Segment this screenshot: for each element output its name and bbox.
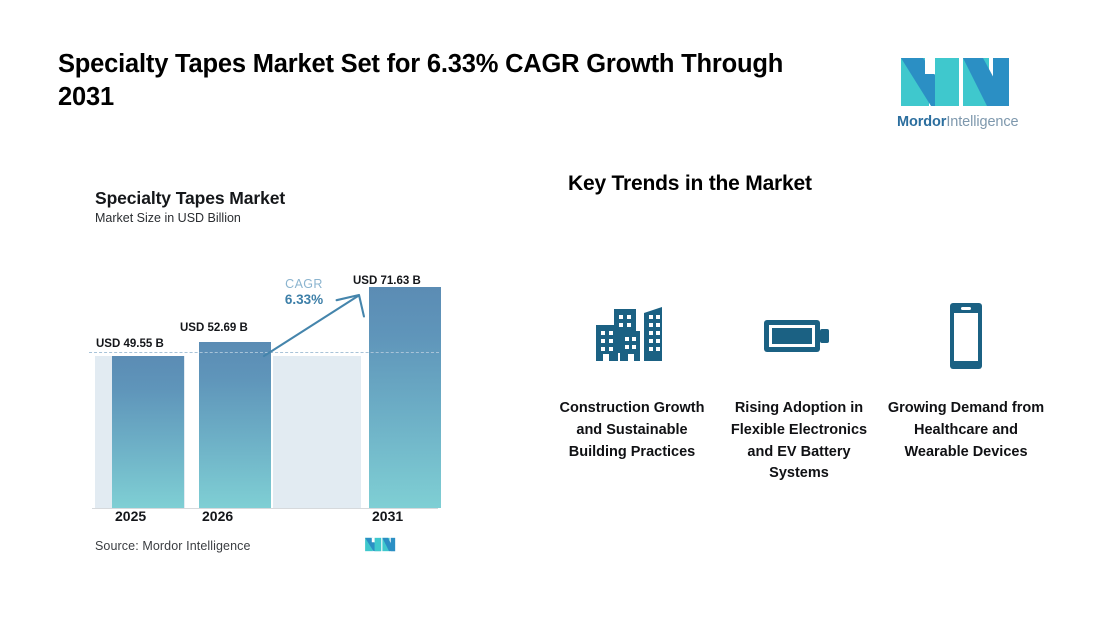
- source-mordor-logo-mark: [364, 536, 396, 553]
- logo-wordmark: MordorIntelligence: [897, 114, 1012, 130]
- smartphone-icon: [884, 300, 1048, 372]
- chart-background-band: [273, 356, 361, 508]
- chart-title: Specialty Tapes Market: [95, 188, 285, 209]
- buildings-icon-glyph: [594, 303, 670, 369]
- mordor-logo-mark: [897, 54, 1012, 110]
- battery-icon-glyph: [762, 312, 836, 360]
- trend-item-healthcare: Growing Demand from Healthcare and Weara…: [884, 300, 1048, 463]
- logo-word-intelligence: Intelligence: [946, 114, 1018, 130]
- battery-icon: [717, 300, 881, 372]
- bar-value-label-2026: USD 52.69 B: [180, 322, 248, 334]
- trend-item-construction: Construction Growth and Sustainable Buil…: [550, 300, 714, 463]
- smartphone-icon-glyph: [944, 301, 988, 371]
- trend-item-electronics: Rising Adoption in Flexible Electronics …: [717, 300, 881, 485]
- chart-panel: Specialty Tapes Market Market Size in US…: [0, 0, 470, 622]
- bar-2025: [112, 356, 184, 508]
- buildings-icon: [550, 300, 714, 372]
- trends-heading: Key Trends in the Market: [568, 172, 812, 196]
- bar-chart-plot: USD 49.55 B USD 52.69 B USD 71.63 B 2025…: [95, 258, 433, 508]
- source-name: Mordor Intelligence: [142, 539, 250, 553]
- chart-subtitle: Market Size in USD Billion: [95, 211, 241, 225]
- source-note: Source: Mordor Intelligence: [95, 539, 251, 553]
- logo-word-mordor: Mordor: [897, 114, 946, 130]
- x-tick-label-2025: 2025: [115, 508, 146, 524]
- cagr-label: CAGR: [272, 277, 336, 291]
- cagr-value: 6.33%: [272, 292, 336, 307]
- source-label: Source:: [95, 539, 139, 553]
- bar-value-label-2025: USD 49.55 B: [96, 338, 164, 350]
- cagr-annotation: CAGR 6.33%: [272, 277, 336, 307]
- infographic-page: Specialty Tapes Market Set for 6.33% CAG…: [0, 0, 1107, 622]
- trend-label: Construction Growth and Sustainable Buil…: [550, 398, 714, 463]
- trend-label: Rising Adoption in Flexible Electronics …: [717, 398, 881, 485]
- trend-label: Growing Demand from Healthcare and Weara…: [884, 398, 1048, 463]
- mordor-intelligence-logo: MordorIntelligence: [897, 54, 1012, 130]
- x-tick-label-2026: 2026: [202, 508, 233, 524]
- bar-2031: [369, 287, 441, 508]
- bar-2026: [199, 342, 271, 508]
- x-tick-label-2031: 2031: [372, 508, 403, 524]
